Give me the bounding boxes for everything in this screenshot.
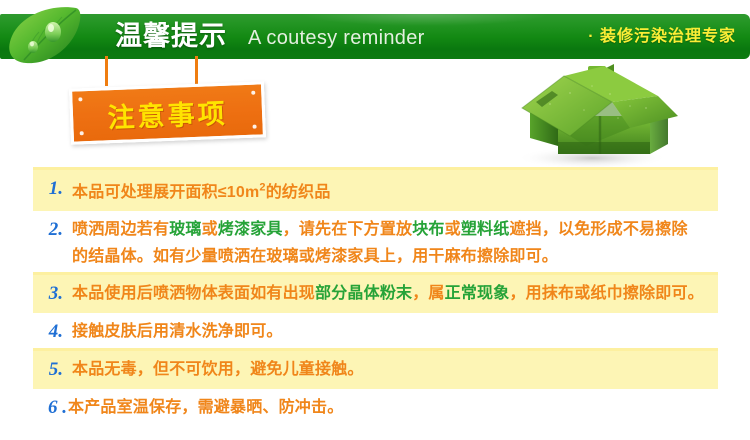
notice-row: 6 .本产品室温保存，需避暴晒、防冲击。 xyxy=(33,389,718,427)
notice-text-line: 的结晶体。如有少量喷洒在玻璃或烤漆家具上，用干麻布擦除即可。 xyxy=(72,243,718,270)
notice-text-segment: 或 xyxy=(445,221,461,238)
notice-text-segment: 块布 xyxy=(412,221,444,238)
banner-string-left xyxy=(105,56,108,86)
notice-row: 5.本品无毒，但不可饮用，避免儿童接触。 xyxy=(33,351,718,389)
notice-row: 2.喷洒周边若有玻璃或烤漆家具，请先在下方置放块布或塑料纸遮挡，以免形成不易擦除… xyxy=(33,211,718,275)
leaf-with-water-drop-icon xyxy=(2,2,88,68)
notice-text-line: 喷洒周边若有玻璃或烤漆家具，请先在下方置放块布或塑料纸遮挡，以免形成不易擦除 xyxy=(72,216,718,243)
notice-text: 本品无毒，但不可饮用，避免儿童接触。 xyxy=(65,356,718,383)
notice-number: 5. xyxy=(33,356,65,384)
notice-text-line: 本品可处理展开面积≤10m2的纺织品 xyxy=(72,175,718,206)
notice-text: 喷洒周边若有玻璃或烤漆家具，请先在下方置放块布或塑料纸遮挡，以免形成不易擦除的结… xyxy=(65,216,718,270)
notice-text: 本产品室温保存，需避暴晒、防冲击。 xyxy=(67,394,718,421)
notice-number: 3. xyxy=(33,280,65,308)
notice-list: 1.本品可处理展开面积≤10m2的纺织品2.喷洒周边若有玻璃或烤漆家具，请先在下… xyxy=(33,170,718,427)
notice-text-segment: ，属 xyxy=(412,285,444,302)
precautions-banner: 注意事项 xyxy=(69,81,266,144)
notice-text: 本品使用后喷洒物体表面如有出现部分晶体粉末，属正常现象，用抹布或纸巾擦除即可。 xyxy=(65,280,718,307)
notice-text-line: 本品使用后喷洒物体表面如有出现部分晶体粉末，属正常现象，用抹布或纸巾擦除即可。 xyxy=(72,280,718,307)
banner-label: 注意事项 xyxy=(72,84,263,141)
notice-text-segment: 本品使用后喷洒物体表面如有出现 xyxy=(72,285,315,302)
notice-row: 3.本品使用后喷洒物体表面如有出现部分晶体粉末，属正常现象，用抹布或纸巾擦除即可… xyxy=(33,275,718,313)
square-meter-superscript: 2 xyxy=(259,182,265,194)
notice-text-segment: 塑料纸 xyxy=(461,221,510,238)
page-header: 温馨提示 A coutesy reminder · 装修污染治理专家 xyxy=(0,14,750,59)
notice-text-segment: ，请先在下方置放 xyxy=(283,221,413,238)
notice-text-segment: 部分晶体粉末 xyxy=(315,285,412,302)
notice-number: 4. xyxy=(33,318,65,346)
notice-text-segment: 本品可处理展开面积≤10m2的纺织品 xyxy=(72,184,331,201)
notice-text-segment: 遮挡，以免形成不易擦除 xyxy=(509,221,687,238)
header-title-en: A coutesy reminder xyxy=(248,24,425,52)
notice-text-segment: 本品无毒，但不可饮用，避免儿童接触。 xyxy=(72,361,364,378)
notice-text-line: 本品无毒，但不可饮用，避免儿童接触。 xyxy=(72,356,718,383)
notice-text-segment: 玻璃 xyxy=(169,221,201,238)
notice-text-line: 接触皮肤后用清水洗净即可。 xyxy=(72,318,718,345)
notice-row: 4.接触皮肤后用清水洗净即可。 xyxy=(33,313,718,351)
notice-text-segment: 喷洒周边若有 xyxy=(72,221,169,238)
notice-text: 接触皮肤后用清水洗净即可。 xyxy=(65,318,718,345)
notice-text-segment: 正常现象 xyxy=(445,285,510,302)
header-title-cn: 温馨提示 xyxy=(115,18,227,54)
notice-text-segment: 烤漆家具 xyxy=(218,221,283,238)
notice-number: 2. xyxy=(33,216,65,244)
notice-text-line: 本产品室温保存，需避暴晒、防冲击。 xyxy=(68,394,718,421)
notice-text-segment: 或 xyxy=(202,221,218,238)
banner-string-right xyxy=(195,56,198,86)
notice-text: 本品可处理展开面积≤10m2的纺织品 xyxy=(65,175,718,206)
notice-row: 1.本品可处理展开面积≤10m2的纺织品 xyxy=(33,170,718,211)
header-tagline: · 装修污染治理专家 xyxy=(588,23,736,51)
notice-number: 6 . xyxy=(33,394,67,422)
notice-text-segment: ，用抹布或纸巾擦除即可。 xyxy=(509,285,703,302)
notice-text-segment: 本产品室温保存，需避暴晒、防冲击。 xyxy=(68,399,343,416)
notice-number: 1. xyxy=(33,175,65,203)
notice-text-segment: 接触皮肤后用清水洗净即可。 xyxy=(72,323,283,340)
notice-text-segment: 的结晶体。如有少量喷洒在玻璃或烤漆家具上，用干麻布擦除即可。 xyxy=(72,248,558,265)
grass-covered-house-icon xyxy=(500,58,690,170)
